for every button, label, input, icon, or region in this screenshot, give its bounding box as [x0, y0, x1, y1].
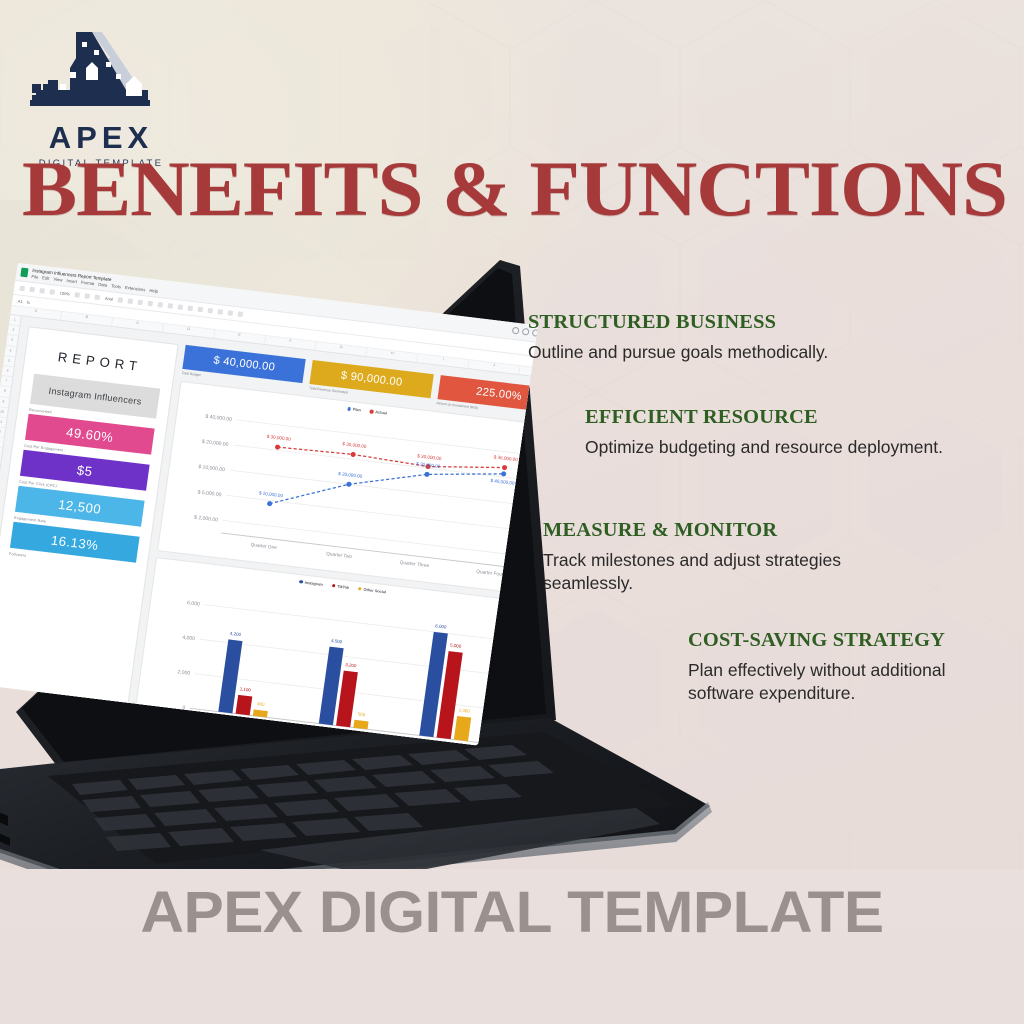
benefit-heading: EFFICIENT RESOURCE [585, 406, 950, 429]
benefit-item-cost-saving-strategy: COST-SAVING STRATEGY Plan effectively wi… [688, 629, 993, 706]
benefit-body: Plan effectively without additional soft… [688, 659, 993, 706]
benefit-item-measure-monitor: MEASURE & MONITOR Track milestones and a… [543, 519, 893, 596]
footer-wordmark: APEX DIGITAL TEMPLATE [0, 879, 1024, 946]
benefit-item-efficient-resource: EFFICIENT RESOURCE Optimize budgeting an… [585, 406, 943, 459]
benefit-heading: COST-SAVING STRATEGY [688, 629, 999, 652]
benefit-body: Track milestones and adjust strategies s… [543, 549, 893, 596]
benefit-heading: STRUCTURED BUSINESS [528, 311, 834, 334]
benefit-body: Optimize budgeting and resource deployme… [585, 436, 943, 459]
benefit-item-structured-business: STRUCTURED BUSINESS Outline and pursue g… [528, 311, 828, 364]
benefit-heading: MEASURE & MONITOR [543, 519, 900, 542]
poster-canvas: APEX DIGITAL TEMPLATE BENEFITS & FUNCTIO… [0, 0, 1024, 1024]
benefit-body: Outline and pursue goals methodically. [528, 341, 828, 364]
